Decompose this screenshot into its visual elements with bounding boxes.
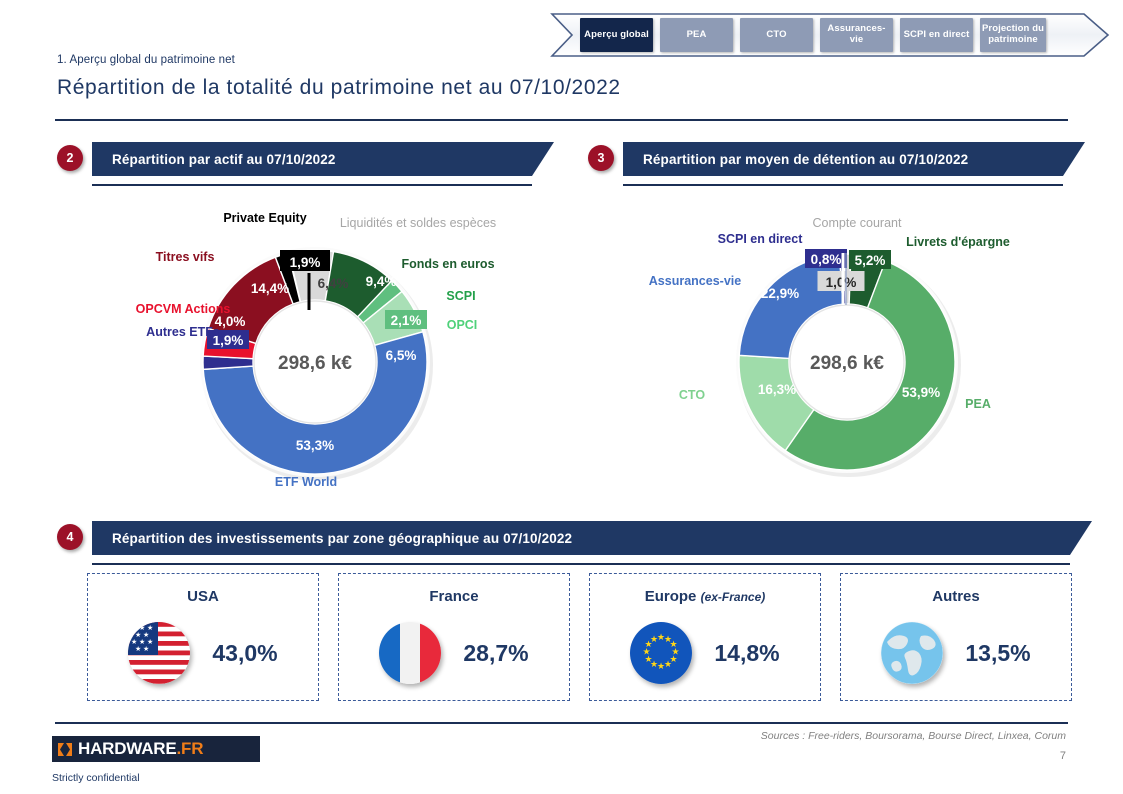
pie-slice-value: 5,2% xyxy=(855,253,886,268)
section-header-geo: 4 Répartition des investissements par zo… xyxy=(57,521,1068,555)
svg-text:★: ★ xyxy=(657,662,665,672)
flag-usa-icon: ★★★ ★★ ★★★ ★★ xyxy=(128,622,190,684)
geo-card-value: 13,5% xyxy=(965,640,1030,667)
pie-callout-label: Titres vifs xyxy=(156,250,215,264)
flag-europe-icon: ★★★ ★★★ ★★★ ★★★ xyxy=(630,622,692,684)
hardware-fr-logo: HARDWARE.FR xyxy=(52,736,260,762)
globe-icon xyxy=(881,622,943,684)
section-header-detention: 3 Répartition par moyen de détention au … xyxy=(588,142,1068,176)
pie-callout-label: Livrets d'épargne xyxy=(906,235,1010,249)
section-badge: 3 xyxy=(588,145,614,171)
geo-card-usa: USA ★★★ ★★ ★★★ ★★ xyxy=(87,573,319,701)
slide: Aperçu global PEA CTO Assurances-vie SCP… xyxy=(0,0,1123,794)
pie-slice-value: 1,9% xyxy=(290,255,321,270)
section-badge: 4 xyxy=(57,524,83,550)
header-divider xyxy=(55,119,1068,121)
nav-tab-assurances-vie[interactable]: Assurances-vie xyxy=(820,18,893,52)
sources-note: Sources : Free-riders, Boursorama, Bours… xyxy=(761,730,1066,742)
breadcrumb: 1. Aperçu global du patrimoine net xyxy=(57,54,235,66)
geo-card-row: 28,7% xyxy=(339,622,569,684)
nav-tab-projection-du-patrimoine[interactable]: Projection du patrimoine xyxy=(980,18,1046,52)
geo-card-france: France 28,7% xyxy=(338,573,570,701)
pie-slice-value: 6,4% xyxy=(318,276,349,291)
pie-callout-label: CTO xyxy=(679,388,705,402)
pie-slice-value: 22,9% xyxy=(761,286,799,301)
pie-slice-value: 53,9% xyxy=(902,385,940,400)
page-number: 7 xyxy=(1060,750,1066,762)
pie-slice-value: 1,0% xyxy=(826,275,857,290)
geo-card-value: 28,7% xyxy=(463,640,528,667)
geo-card-title: Autres xyxy=(841,588,1071,605)
pie-callout-label: Assurances-vie xyxy=(649,274,741,288)
nav-tab-label: CTO xyxy=(766,30,786,41)
nav-tab-pea[interactable]: PEA xyxy=(660,18,733,52)
logo-text: HARDWARE.FR xyxy=(78,739,203,759)
nav-tab-label: SCPI en direct xyxy=(904,30,970,41)
donut-center-label: 298,6 k€ xyxy=(278,353,352,374)
pie-callout-label: Private Equity xyxy=(223,211,306,225)
geo-card-title-text: Europe xyxy=(645,588,697,605)
nav-tab-label: PEA xyxy=(687,30,707,41)
geo-card-row: ★★★ ★★ ★★★ ★★ 43,0% xyxy=(88,622,318,684)
geo-card-title-text: USA xyxy=(187,588,219,605)
section-badge: 2 xyxy=(57,145,83,171)
donut-center-label: 298,6 k€ xyxy=(810,353,884,374)
nav-tab-apercu-global[interactable]: Aperçu global xyxy=(580,18,653,52)
pie-callout-label: Compte courant xyxy=(813,216,902,230)
logo-mark-icon xyxy=(56,740,75,759)
pie-callout-label: Autres ETFs xyxy=(146,325,220,339)
page-title: Répartition de la totalité du patrimoine… xyxy=(57,76,621,100)
chart-repartition-par-actif: 298,6 k€6,4%9,4%2,1%6,5%53,3%1,9%4,0%14,… xyxy=(90,205,540,505)
section-title: Répartition des investissements par zone… xyxy=(112,521,572,555)
section-title: Répartition par moyen de détention au 07… xyxy=(643,142,968,176)
nav-tab-label: Projection du patrimoine xyxy=(982,24,1044,45)
geo-card-europe: Europe (ex-France) ★★★ ★★★ ★★★ ★★★ 14,8% xyxy=(589,573,821,701)
logo-text-main: HARDWARE xyxy=(78,739,177,758)
geo-card-title: France xyxy=(339,588,569,605)
nav-tab-cto[interactable]: CTO xyxy=(740,18,813,52)
pie-callout-label: PEA xyxy=(965,397,991,411)
logo-fr: FR xyxy=(181,739,203,758)
svg-text:★: ★ xyxy=(143,645,149,653)
geo-card-title: USA xyxy=(88,588,318,605)
section-underline xyxy=(92,184,532,186)
geo-card-subtitle: (ex-France) xyxy=(701,590,766,604)
geo-card-value: 43,0% xyxy=(212,640,277,667)
geo-card-value: 14,8% xyxy=(714,640,779,667)
nav-tab-list: Aperçu global PEA CTO Assurances-vie SCP… xyxy=(580,18,1046,52)
pie-callout-label: ETF World xyxy=(275,475,337,489)
pie-slice-value: 2,1% xyxy=(391,313,422,328)
pie-slice-value: 53,3% xyxy=(296,438,334,453)
logo-text-suffix: .FR xyxy=(177,739,204,758)
pie-slice-value: 9,4% xyxy=(366,274,397,289)
pie-slice-value: 6,5% xyxy=(386,348,417,363)
pie-callout-label: Liquidités et soldes espèces xyxy=(340,216,496,230)
svg-text:★: ★ xyxy=(135,645,141,653)
geo-card-title-text: Autres xyxy=(932,588,980,605)
nav-tab-scpi-en-direct[interactable]: SCPI en direct xyxy=(900,18,973,52)
geo-card-row: 13,5% xyxy=(841,622,1071,684)
pie-callout-label: OPCVM Actions xyxy=(136,302,231,316)
geo-card-autres: Autres 13,5% xyxy=(840,573,1072,701)
geo-card-row: ★★★ ★★★ ★★★ ★★★ 14,8% xyxy=(590,622,820,684)
top-navigation: Aperçu global PEA CTO Assurances-vie SCP… xyxy=(550,12,1110,58)
section-underline xyxy=(623,184,1063,186)
section-underline xyxy=(92,563,1070,565)
pie-callout-label: OPCI xyxy=(447,318,478,332)
pie-callout-label: SCPI en direct xyxy=(718,232,804,246)
pie-slice-value: 14,4% xyxy=(251,281,289,296)
section-header-actifs: 2 Répartition par actif au 07/10/2022 xyxy=(57,142,557,176)
geo-card-title-text: France xyxy=(429,588,478,605)
chart-repartition-par-detention: 298,6 k€1,0%5,2%53,9%16,3%22,9%0,8%Compt… xyxy=(620,205,1070,505)
svg-text:★: ★ xyxy=(664,660,672,670)
pie-slice-value: 0,8% xyxy=(811,252,842,267)
flag-france-icon xyxy=(379,622,441,684)
section-title: Répartition par actif au 07/10/2022 xyxy=(112,142,336,176)
confidential-note: Strictly confidential xyxy=(52,772,140,784)
pie-slice-value: 16,3% xyxy=(758,382,796,397)
svg-text:★: ★ xyxy=(650,635,658,645)
footer-divider xyxy=(55,722,1068,724)
pie-callout-label: SCPI xyxy=(446,289,475,303)
nav-tab-label: Assurances-vie xyxy=(822,24,891,45)
pie-callout-label: Fonds en euros xyxy=(401,257,494,271)
nav-tab-label: Aperçu global xyxy=(584,30,649,41)
geo-card-title: Europe (ex-France) xyxy=(590,588,820,605)
